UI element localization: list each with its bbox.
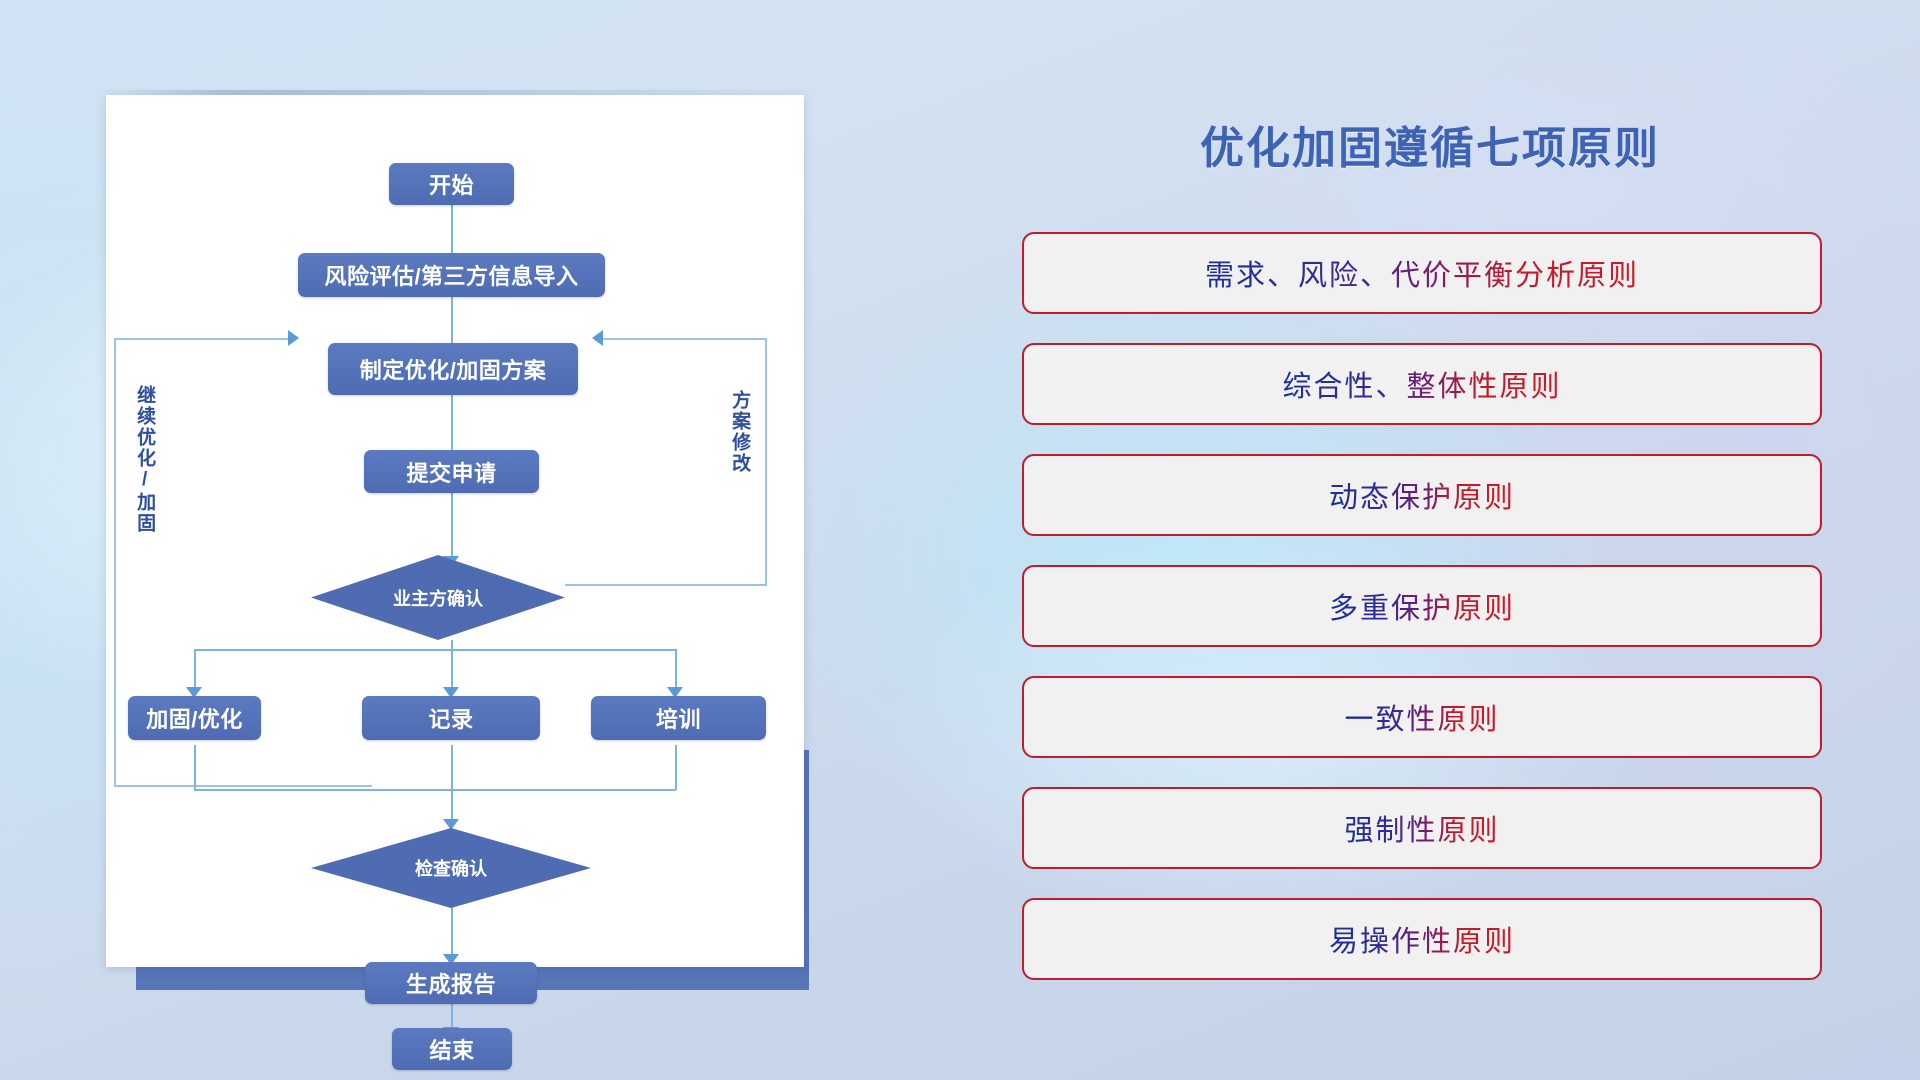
flow-node-submit-label: 提交申请 <box>406 456 496 488</box>
principle-item[interactable]: 多重保护原则 <box>1022 565 1822 647</box>
principle-item[interactable]: 需求、风险、代价平衡分析原则 <box>1022 232 1822 314</box>
arrow-left-loop-into-plan <box>288 330 299 346</box>
flow-node-record-label: 记录 <box>428 702 473 734</box>
edge-left-loop-bottom <box>114 785 372 787</box>
principle-label: 易操作性原则 <box>1329 918 1515 960</box>
flow-node-generate-report[interactable]: 生成报告 <box>365 962 537 1004</box>
principle-label: 需求、风险、代价平衡分析原则 <box>1205 252 1639 294</box>
edge-left-loop-vertical <box>114 338 116 786</box>
principle-label: 一致性原则 <box>1344 696 1499 738</box>
principle-item[interactable]: 一致性原则 <box>1022 676 1822 758</box>
flow-node-owner-confirm[interactable]: 业主方确认 <box>311 555 565 640</box>
flow-node-training-label: 培训 <box>656 702 701 734</box>
panel-title: 优化加固遵循七项原则 <box>1020 112 1840 176</box>
flow-node-reinforce[interactable]: 加固/优化 <box>128 696 261 740</box>
flow-node-start-label: 开始 <box>429 168 474 200</box>
arrow-right-loop-into-plan <box>592 330 603 346</box>
flow-node-plan-label: 制定优化/加固方案 <box>360 353 547 385</box>
flow-node-end[interactable]: 结束 <box>392 1028 512 1070</box>
flow-node-start[interactable]: 开始 <box>389 163 514 205</box>
principle-label: 综合性、整体性原则 <box>1282 363 1561 405</box>
principle-item[interactable]: 强制性原则 <box>1022 787 1822 869</box>
edge-reinforce-down <box>194 745 196 790</box>
flow-node-submit[interactable]: 提交申请 <box>364 450 539 493</box>
edge-submit-to-owner <box>451 493 453 565</box>
flow-node-plan[interactable]: 制定优化/加固方案 <box>328 343 578 395</box>
principle-label: 动态保护原则 <box>1329 474 1515 516</box>
principle-item[interactable]: 动态保护原则 <box>1022 454 1822 536</box>
flow-node-record[interactable]: 记录 <box>362 696 540 740</box>
edge-right-loop-top <box>603 338 766 340</box>
edge-right-loop-vertical <box>765 338 767 586</box>
principle-item[interactable]: 易操作性原则 <box>1022 898 1822 980</box>
principle-label: 强制性原则 <box>1344 807 1499 849</box>
flow-node-owner-confirm-label: 业主方确认 <box>393 585 483 611</box>
edge-fanout-bar <box>194 649 676 651</box>
flow-node-risk-assessment[interactable]: 风险评估/第三方信息导入 <box>298 253 605 297</box>
edge-right-loop-bottom <box>565 584 766 586</box>
edge-record-down <box>451 745 453 828</box>
flow-node-generate-report-label: 生成报告 <box>406 967 496 999</box>
flow-node-check-confirm[interactable]: 检查确认 <box>311 828 591 908</box>
principles-list: 需求、风险、代价平衡分析原则 综合性、整体性原则 动态保护原则 多重保护原则 一… <box>1022 232 1822 1009</box>
flow-node-reinforce-label: 加固/优化 <box>146 702 243 734</box>
edge-merge-bar <box>194 789 676 791</box>
edge-training-down <box>675 745 677 790</box>
flow-node-check-confirm-label: 检查确认 <box>415 855 487 881</box>
flow-node-end-label: 结束 <box>429 1033 474 1065</box>
edge-left-loop-top <box>114 338 292 340</box>
principle-label: 多重保护原则 <box>1329 585 1515 627</box>
edge-label-left-loop: 继续优化/加固 <box>134 385 154 534</box>
flow-node-risk-assessment-label: 风险评估/第三方信息导入 <box>324 259 578 291</box>
flowchart-card: 开始 风险评估/第三方信息导入 制定优化/加固方案 提交申请 业主方确认 加固/… <box>106 95 804 967</box>
flow-node-training[interactable]: 培训 <box>591 696 766 740</box>
principle-item[interactable]: 综合性、整体性原则 <box>1022 343 1822 425</box>
edge-label-right-loop: 方案修改 <box>729 390 749 474</box>
